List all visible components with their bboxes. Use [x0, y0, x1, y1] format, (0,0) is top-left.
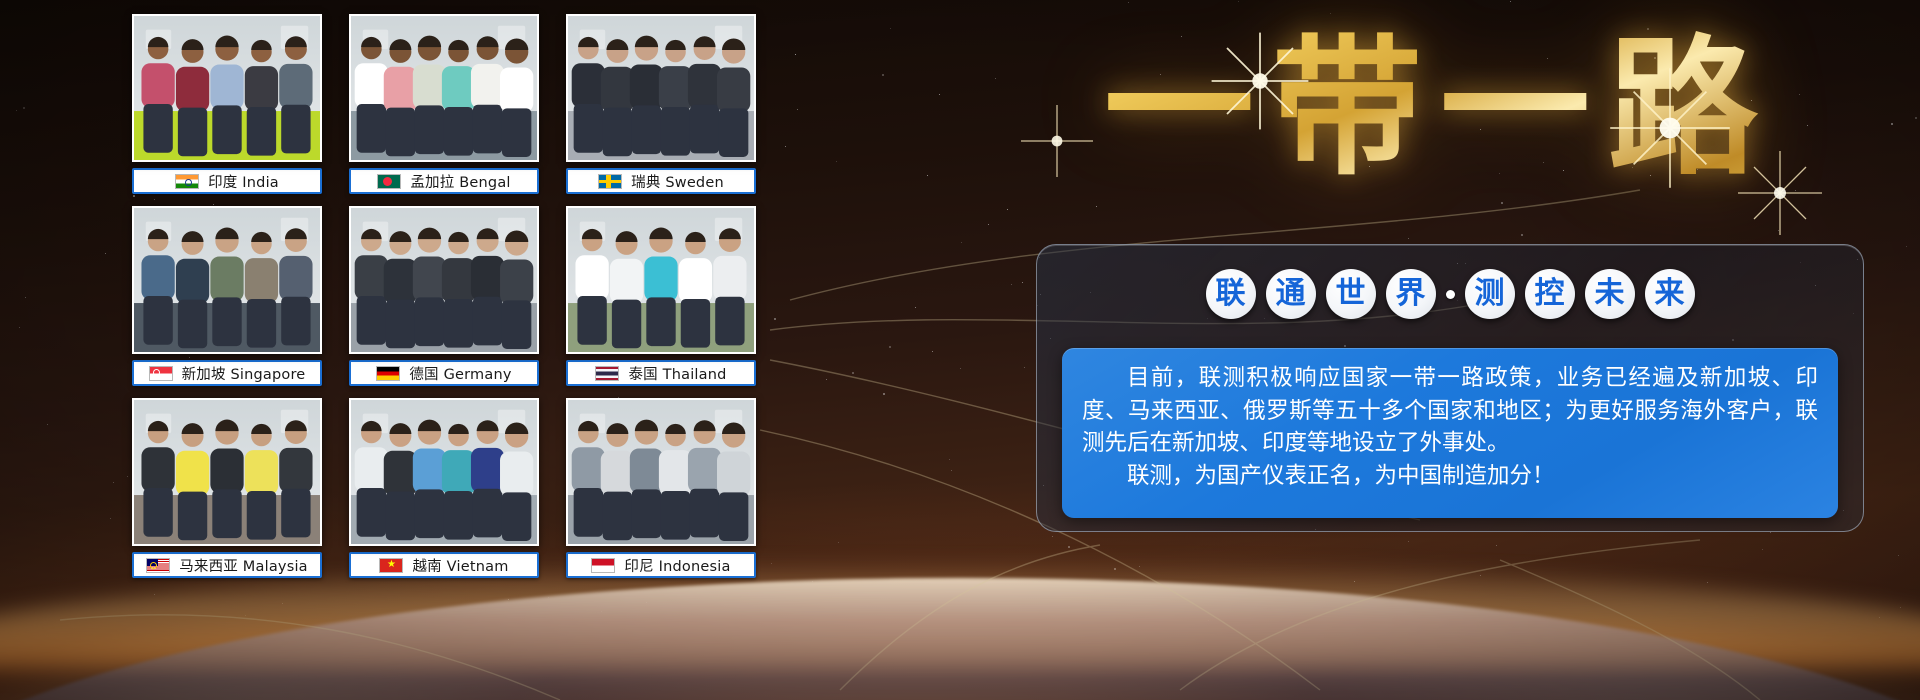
gallery-cell[interactable]: 印尼 Indonesia — [566, 398, 756, 576]
slogan-separator-dot — [1446, 290, 1455, 299]
gallery-cell[interactable]: 马来西亚 Malaysia — [132, 398, 322, 576]
country-photo[interactable] — [132, 14, 322, 162]
country-caption[interactable]: 印度 India — [132, 168, 322, 194]
calligraphy-title-block: 一带一路 — [1040, 8, 1840, 218]
country-photo-grid: 印度 India — [132, 14, 756, 580]
indonesia-flag — [591, 558, 615, 573]
vietnam-flag — [379, 558, 403, 573]
country-label: 瑞典 Sweden — [631, 171, 724, 192]
slogan-char-7: 未 — [1585, 269, 1635, 319]
slogan-row: 联通世界测控未来 — [1036, 262, 1864, 326]
country-label: 德国 Germany — [409, 363, 511, 384]
country-caption[interactable]: 越南 Vietnam — [349, 552, 539, 578]
germany-flag — [376, 366, 400, 381]
country-label: 马来西亚 Malaysia — [179, 555, 308, 576]
slogan-char-2: 世 — [1326, 269, 1376, 319]
country-caption[interactable]: 马来西亚 Malaysia — [132, 552, 322, 578]
gallery-cell[interactable]: 印度 India — [132, 14, 322, 192]
country-photo[interactable] — [132, 206, 322, 354]
gallery-cell[interactable]: 德国 Germany — [349, 206, 539, 384]
description-paragraph-1: 目前，联测积极响应国家一带一路政策，业务已经遍及新加坡、印度、马来西亚、俄罗斯等… — [1082, 362, 1818, 460]
slogan-char-0: 联 — [1206, 269, 1256, 319]
gallery-cell[interactable]: 越南 Vietnam — [349, 398, 539, 576]
slogan-char-8: 来 — [1645, 269, 1695, 319]
country-caption[interactable]: 孟加拉 Bengal — [349, 168, 539, 194]
description-paragraph-2: 联测，为国产仪表正名，为中国制造加分！ — [1082, 460, 1818, 493]
bangladesh-flag — [377, 174, 401, 189]
malaysia-flag — [146, 558, 170, 573]
country-caption[interactable]: 新加坡 Singapore — [132, 360, 322, 386]
company-description-panel: 目前，联测积极响应国家一带一路政策，业务已经遍及新加坡、印度、马来西亚、俄罗斯等… — [1062, 348, 1838, 518]
country-caption[interactable]: 德国 Germany — [349, 360, 539, 386]
country-photo[interactable] — [566, 398, 756, 546]
slogan-char-1: 通 — [1266, 269, 1316, 319]
slogan-char-6: 控 — [1525, 269, 1575, 319]
country-caption[interactable]: 瑞典 Sweden — [566, 168, 756, 194]
country-caption[interactable]: 印尼 Indonesia — [566, 552, 756, 578]
country-photo[interactable] — [349, 398, 539, 546]
country-label: 泰国 Thailand — [628, 363, 726, 384]
gallery-cell[interactable]: 孟加拉 Bengal — [349, 14, 539, 192]
country-caption[interactable]: 泰国 Thailand — [566, 360, 756, 386]
slogan-char-3: 界 — [1386, 269, 1436, 319]
slogan-char-5: 测 — [1465, 269, 1515, 319]
sweden-flag — [598, 174, 622, 189]
country-photo[interactable] — [566, 206, 756, 354]
country-photo[interactable] — [566, 14, 756, 162]
singapore-flag — [149, 366, 173, 381]
country-label: 印度 India — [208, 171, 279, 192]
calligraphy-title: 一带一路 — [1040, 8, 1840, 208]
india-flag — [175, 174, 199, 189]
country-label: 越南 Vietnam — [412, 555, 508, 576]
country-label: 印尼 Indonesia — [624, 555, 730, 576]
thailand-flag — [595, 366, 619, 381]
banner-stage: 印度 India — [0, 0, 1920, 700]
country-photo[interactable] — [349, 14, 539, 162]
gallery-cell[interactable]: 瑞典 Sweden — [566, 14, 756, 192]
country-label: 孟加拉 Bengal — [410, 171, 510, 192]
country-photo[interactable] — [349, 206, 539, 354]
gallery-cell[interactable]: 泰国 Thailand — [566, 206, 756, 384]
gallery-cell[interactable]: 新加坡 Singapore — [132, 206, 322, 384]
country-label: 新加坡 Singapore — [182, 363, 306, 384]
country-photo[interactable] — [132, 398, 322, 546]
